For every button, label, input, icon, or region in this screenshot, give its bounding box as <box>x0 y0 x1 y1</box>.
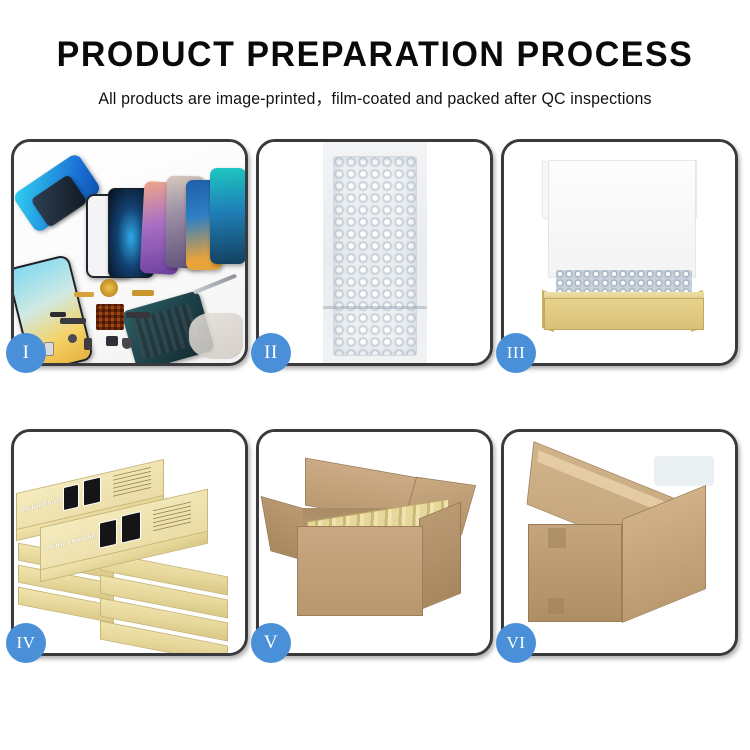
step-panel-6: VI <box>501 429 738 656</box>
small-component-6 <box>50 312 66 317</box>
tweezers-tool <box>193 274 237 295</box>
flex-cable-part-4 <box>126 312 150 318</box>
small-component-3 <box>106 336 118 346</box>
sealed-carton-front-face <box>528 524 622 622</box>
step-image-4: Mobile Phone Spare Parts Mobile Phone Sp… <box>14 432 245 653</box>
bubble-wrap-bubbles <box>333 156 417 356</box>
step-image-6 <box>504 432 735 653</box>
step-panel-4: Mobile Phone Spare Parts Mobile Phone Sp… <box>11 429 248 656</box>
inner-box-lid <box>548 160 696 278</box>
bubble-wrap-seam <box>323 306 427 309</box>
step-badge-5: V <box>251 623 291 663</box>
step-panel-5: V <box>256 429 493 656</box>
copper-coil-part <box>100 279 118 297</box>
product-preparation-page: PRODUCT PREPARATION PROCESS All products… <box>0 0 750 750</box>
connector-grid-part <box>96 304 124 330</box>
box-art-screen-a2 <box>83 476 101 506</box>
carton-wrap-film <box>654 456 714 486</box>
page-subtitle: All products are image-printed，film-coat… <box>6 85 745 109</box>
step-panel-2: II <box>256 139 493 366</box>
step-badge-2: II <box>251 333 291 373</box>
page-title: PRODUCT PREPARATION PROCESS <box>11 36 739 74</box>
process-steps-grid: I II III <box>11 139 739 656</box>
inner-box-front <box>544 298 704 330</box>
step-image-1 <box>14 142 245 363</box>
carton-handle-cutout-bottom <box>548 598 564 614</box>
step-panel-3: III <box>501 139 738 366</box>
small-component-1 <box>68 334 77 343</box>
step-image-3 <box>504 142 735 363</box>
phone-screen-teal <box>210 168 245 264</box>
step-badge-6: VI <box>496 623 536 663</box>
small-component-2 <box>84 338 92 350</box>
carton-front-face <box>297 526 423 616</box>
box-art-screen-b2 <box>121 511 141 544</box>
carton-handle-cutout-top <box>548 528 566 548</box>
step-badge-1: I <box>6 333 46 373</box>
step-badge-3: III <box>496 333 536 373</box>
step-panel-1: I <box>11 139 248 366</box>
step-badge-4: IV <box>6 623 46 663</box>
step-image-5 <box>259 432 490 653</box>
flex-cable-part-1 <box>74 292 94 297</box>
flex-cable-part-3 <box>132 290 154 296</box>
flex-cable-part-2 <box>60 318 86 324</box>
step-image-2 <box>259 142 490 363</box>
carton-side-right <box>419 502 461 611</box>
hand-holding-tool <box>189 313 243 359</box>
small-component-4 <box>122 338 132 349</box>
box-art-screen-b1 <box>99 519 117 549</box>
box-art-screen-a1 <box>63 484 79 512</box>
page-header: PRODUCT PREPARATION PROCESS All products… <box>0 0 750 109</box>
